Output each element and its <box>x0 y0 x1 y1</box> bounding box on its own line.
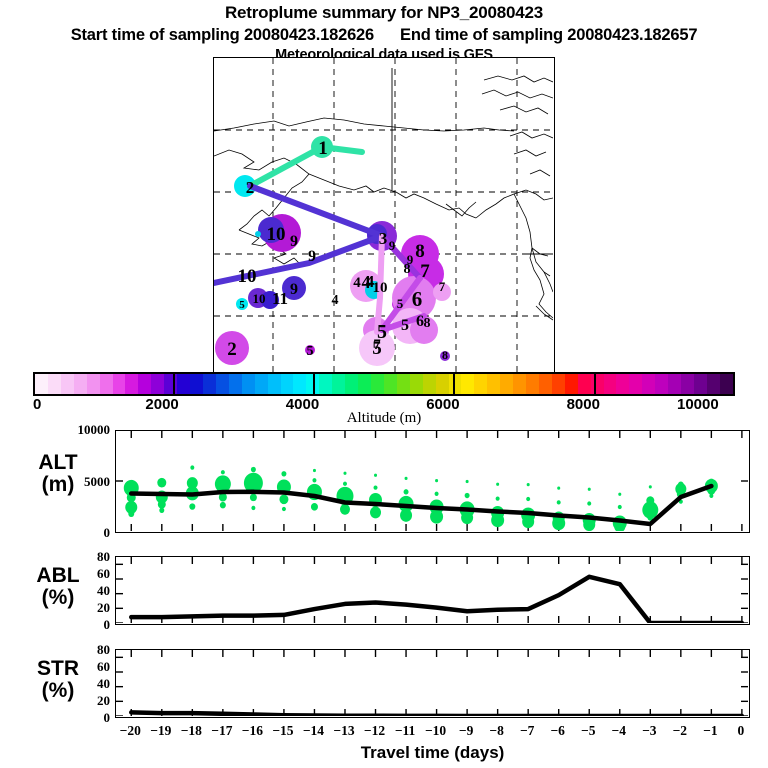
colorbar-segment <box>384 374 397 394</box>
colorbar-segment <box>526 374 539 394</box>
colorbar-segment <box>565 374 578 394</box>
alt-scatter-blob <box>465 493 470 498</box>
sampling-time-row: Start time of sampling 20080423.182626En… <box>0 26 768 45</box>
x-tick-label: −7 <box>512 723 542 739</box>
colorbar-segment <box>397 374 410 394</box>
alt-scatter-blob <box>461 511 473 524</box>
x-tick-label: −13 <box>329 723 359 739</box>
svg-text:4: 4 <box>353 275 361 291</box>
colorbar-segment <box>319 374 332 394</box>
x-tick-label: −10 <box>421 723 451 739</box>
svg-text:9: 9 <box>389 238 396 253</box>
colorbar-segment <box>681 374 694 394</box>
x-axis-title: Travel time (days) <box>115 743 750 763</box>
str-plot-svg <box>116 650 748 716</box>
alt-scatter-blob <box>158 500 166 509</box>
alt-scatter-blob <box>466 480 469 483</box>
svg-text:2: 2 <box>227 339 237 360</box>
alt-scatter-blob <box>557 500 561 504</box>
colorbar-segment <box>61 374 74 394</box>
page-title: Retroplume summary for NP3_20080423 <box>0 3 768 23</box>
colorbar-segment <box>668 374 681 394</box>
svg-text:1: 1 <box>318 138 328 159</box>
svg-text:8: 8 <box>442 348 448 362</box>
x-tick-label: −1 <box>695 723 725 739</box>
alt-scatter-blob <box>405 477 408 480</box>
colorbar-segment <box>707 374 720 394</box>
alt-scatter-blob <box>557 486 560 489</box>
colorbar-segment <box>151 374 164 394</box>
ytick-str-20: 20 <box>58 693 110 709</box>
alt-plot-svg <box>116 431 748 531</box>
x-tick-label: −11 <box>390 723 420 739</box>
alt-scatter-blob <box>430 510 443 524</box>
alt-scatter-blob <box>374 474 377 477</box>
alt-scatter-blob <box>588 488 591 491</box>
svg-text:9: 9 <box>407 252 414 267</box>
ytick-str-40: 40 <box>58 676 110 692</box>
svg-text:9: 9 <box>290 281 298 298</box>
alt-scatter-blob <box>343 482 347 486</box>
svg-text:5: 5 <box>401 317 409 334</box>
colorbar-segment <box>113 374 126 394</box>
colorbar-divider <box>173 372 175 396</box>
alt-scatter-blob <box>526 497 530 501</box>
end-time-label: End time of sampling 20080423.182657 <box>400 26 697 44</box>
svg-text:8: 8 <box>424 316 431 331</box>
colorbar-segment <box>216 374 229 394</box>
colorbar-segment <box>164 374 177 394</box>
alt-scatter-blob <box>189 503 195 509</box>
ytick-alt-10000: 10000 <box>58 422 110 438</box>
colorbar-segment <box>539 374 552 394</box>
alt-scatter-blob <box>279 494 288 504</box>
colorbar-segment <box>591 374 604 394</box>
alt-scatter-blob <box>496 483 499 486</box>
colorbar-segment <box>552 374 565 394</box>
svg-text:4: 4 <box>332 293 339 308</box>
border-paths <box>392 68 553 254</box>
x-tick-label: −16 <box>237 723 267 739</box>
svg-text:10: 10 <box>238 266 257 287</box>
x-tick-label: −15 <box>268 723 298 739</box>
x-axis-tick-labels: −20−19−18−17−16−15−14−13−12−11−10−9−8−7−… <box>0 723 768 741</box>
alt-scatter-blob <box>340 504 350 515</box>
colorbar-segment <box>345 374 358 394</box>
ytick-abl-40: 40 <box>58 583 110 599</box>
x-tick-label: −5 <box>573 723 603 739</box>
alt-scatter-blob <box>251 506 255 510</box>
colorbar-segment <box>629 374 642 394</box>
alt-scatter-blob <box>128 511 134 517</box>
x-tick-label: −20 <box>115 723 145 739</box>
colorbar-segment <box>720 374 733 394</box>
colorbar-segment <box>474 374 487 394</box>
svg-text:6: 6 <box>412 287 423 311</box>
alt-scatter-blob <box>678 482 684 488</box>
colorbar-segment <box>371 374 384 394</box>
alt-scatter-blob <box>649 485 652 488</box>
svg-text:7: 7 <box>439 279 446 294</box>
retroplume-summary-figure: Retroplume summary for NP3_20080423 Star… <box>0 0 768 768</box>
svg-text:8: 8 <box>415 241 425 262</box>
alt-scatter-blob <box>522 515 534 528</box>
x-tick-label: −12 <box>360 723 390 739</box>
abl-plot-svg <box>116 557 748 623</box>
colorbar-segment <box>358 374 371 394</box>
colorbar-segment <box>293 374 306 394</box>
start-time-label: Start time of sampling 20080423.182626 <box>71 26 374 44</box>
colorbar-segment <box>694 374 707 394</box>
colorbar-segment <box>655 374 668 394</box>
svg-text:10: 10 <box>267 224 286 245</box>
svg-text:7: 7 <box>420 261 430 282</box>
alt-scatter-blob <box>400 509 412 522</box>
alt-scatter-blob <box>312 478 316 482</box>
svg-text:5: 5 <box>397 296 404 311</box>
str-x-ticks <box>131 650 742 716</box>
alt-scatter-blob <box>159 508 164 513</box>
alt-scatter-blob <box>190 465 194 469</box>
colorbar-segment <box>177 374 190 394</box>
colorbar-segment <box>35 374 48 394</box>
alt-scatter-blob <box>587 501 591 505</box>
x-tick-label: −3 <box>634 723 664 739</box>
colorbar-segment <box>74 374 87 394</box>
colorbar-segment <box>436 374 449 394</box>
svg-text:9: 9 <box>308 248 316 265</box>
alt-scatter-blob <box>220 502 226 508</box>
colorbar-segment <box>604 374 617 394</box>
colorbar-segment <box>190 374 203 394</box>
colorbar-segment <box>332 374 345 394</box>
ytick-alt-0: 0 <box>58 525 110 541</box>
abl-plot-panel[interactable] <box>115 556 750 625</box>
retroplume-map[interactable]: 1 2 3 4 5 6 7 8 9 9 9 10 10 10 10 11 2 5… <box>213 57 555 374</box>
colorbar-axis-label: Altitude (m) <box>0 410 768 427</box>
colorbar-segment <box>138 374 151 394</box>
alt-scatter-blob <box>343 472 346 475</box>
colorbar-segment <box>487 374 500 394</box>
colorbar-segment <box>48 374 61 394</box>
colorbar-segment <box>513 374 526 394</box>
colorbar-segment <box>616 374 629 394</box>
svg-text:5: 5 <box>239 299 245 311</box>
ytick-abl-0: 0 <box>58 617 110 633</box>
svg-text:9: 9 <box>290 233 298 250</box>
row-title-alt-line1: ALT <box>8 452 108 474</box>
ytick-abl-20: 20 <box>58 600 110 616</box>
abl-x-ticks <box>131 557 742 623</box>
colorbar-segment <box>203 374 216 394</box>
alt-scatter-blob <box>404 489 409 494</box>
ytick-str-60: 60 <box>58 659 110 675</box>
colorbar-segment <box>410 374 423 394</box>
alt-scatter-blob <box>618 505 622 509</box>
x-tick-label: −14 <box>298 723 328 739</box>
svg-text:7: 7 <box>373 337 381 353</box>
colorbar-segment <box>100 374 113 394</box>
alt-scatter-blob <box>250 494 257 502</box>
alt-scatter-blob <box>251 467 256 472</box>
ytick-alt-5000: 5000 <box>58 474 110 490</box>
x-tick-label: −6 <box>543 723 573 739</box>
ytick-abl-80: 80 <box>58 549 110 565</box>
altitude-colorbar <box>33 372 735 396</box>
x-tick-label: 0 <box>726 723 756 739</box>
colorbar-segment <box>461 374 474 394</box>
x-tick-label: −19 <box>146 723 176 739</box>
x-tick-label: −4 <box>604 723 634 739</box>
colorbar-segment <box>229 374 242 394</box>
svg-text:10: 10 <box>253 291 266 306</box>
alt-scatter-blob <box>221 470 225 474</box>
colorbar-segment <box>281 374 294 394</box>
alt-scatter-blob <box>157 478 166 488</box>
colorbar-divider <box>594 372 596 396</box>
colorbar-segment <box>125 374 138 394</box>
ytick-abl-60: 60 <box>58 566 110 582</box>
alt-scatter-blob <box>313 469 316 472</box>
colorbar-segment <box>500 374 513 394</box>
colorbar-segment <box>268 374 281 394</box>
colorbar-segment <box>642 374 655 394</box>
alt-scatter-blob <box>552 516 565 530</box>
str-plot-panel[interactable] <box>115 649 750 718</box>
alt-scatter-blob <box>496 496 500 500</box>
colorbar-divider <box>453 372 455 396</box>
alt-scatter-blob <box>646 496 654 505</box>
alt-scatter-blob <box>491 513 504 527</box>
svg-text:10: 10 <box>373 280 388 296</box>
colorbar-segment <box>255 374 268 394</box>
x-tick-label: −9 <box>451 723 481 739</box>
ytick-str-80: 80 <box>58 642 110 658</box>
colorbar-segment <box>423 374 436 394</box>
svg-text:11: 11 <box>272 289 288 308</box>
svg-text:5: 5 <box>307 344 314 359</box>
alt-scatter-blob <box>374 485 378 489</box>
x-tick-label: −8 <box>482 723 512 739</box>
alt-scatter-blob <box>370 506 381 518</box>
colorbar-segment <box>578 374 591 394</box>
alt-scatter-blob <box>281 471 286 476</box>
x-tick-label: −17 <box>207 723 237 739</box>
svg-text:4: 4 <box>362 272 371 292</box>
svg-text:3: 3 <box>379 229 388 248</box>
colorbar-divider <box>313 372 315 396</box>
alt-scatter-blob <box>311 503 318 511</box>
alt-scatter-blob <box>527 483 530 486</box>
alt-scatter-blob <box>618 493 621 496</box>
x-tick-label: −18 <box>176 723 206 739</box>
str-y-ticks <box>116 657 748 716</box>
alt-scatter-blob <box>435 479 438 482</box>
alt-scatter-blob <box>282 507 286 511</box>
colorbar-segment <box>242 374 255 394</box>
alt-scatter-blob <box>435 492 439 496</box>
alt-plot-panel[interactable] <box>115 430 750 533</box>
alt-scatter-blob <box>709 494 713 498</box>
colorbar-segment <box>87 374 100 394</box>
svg-text:2: 2 <box>246 178 255 197</box>
x-tick-label: −2 <box>665 723 695 739</box>
